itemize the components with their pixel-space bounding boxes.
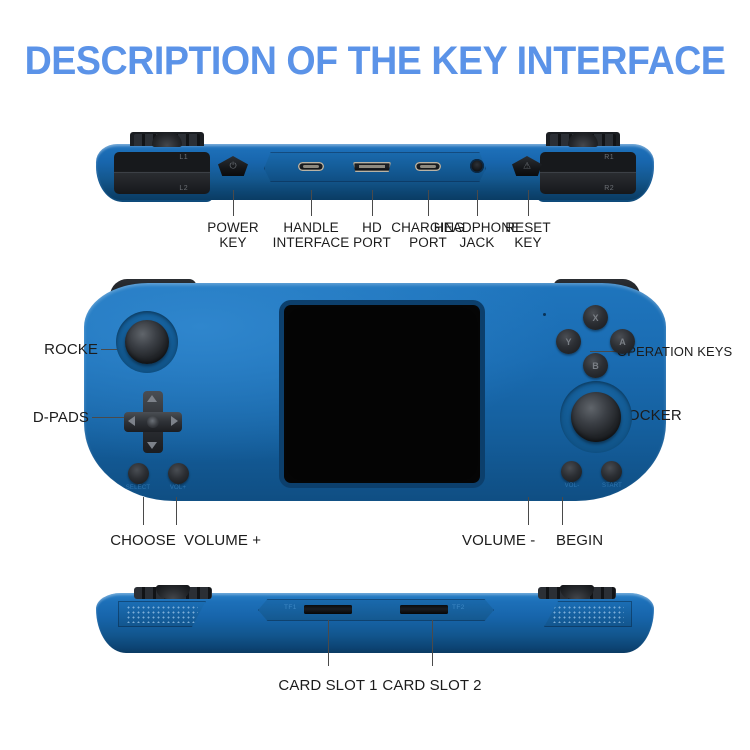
l1-label: L1	[179, 154, 188, 161]
dpad-icon[interactable]	[124, 391, 182, 453]
front-face-view: X Y A B SELECT VOL+ VOL- START	[84, 283, 666, 508]
label-volume-up: VOLUME +	[184, 533, 294, 548]
speaker-grille-right	[544, 601, 632, 627]
top-view-right-stick-cap	[568, 132, 598, 147]
leader-volume-down	[528, 497, 529, 525]
label-dpads: D-PADS	[0, 410, 89, 425]
shoulder-buttons-left[interactable]: L1 L2	[114, 152, 210, 194]
leader-hd-port	[372, 190, 373, 216]
label-begin: BEGIN	[556, 533, 646, 548]
leader-headphone-jack	[477, 190, 478, 216]
dpad-left-arrow-icon	[128, 416, 135, 426]
r1-label: R1	[604, 154, 614, 161]
leader-choose	[143, 497, 144, 525]
button-x[interactable]: X	[583, 305, 608, 330]
handle-interface-port[interactable]	[298, 162, 324, 171]
card-slot-1[interactable]	[304, 605, 352, 614]
volume-up-button[interactable]	[168, 463, 189, 484]
dpad-down-arrow-icon	[147, 442, 157, 449]
leader-card-slot-1	[328, 620, 329, 666]
start-button-caption: START	[595, 483, 629, 489]
shoulder-divider-right	[540, 172, 636, 174]
leader-reset-key	[528, 190, 529, 216]
top-view-left-stick-cap	[152, 132, 182, 147]
leader-card-slot-2	[432, 620, 433, 666]
volume-up-button-caption: VOL+	[161, 485, 195, 491]
leader-handle-interface	[311, 190, 312, 216]
operation-keys-group: X Y A B	[552, 305, 638, 379]
label-left-rocker: ROCKE	[0, 342, 98, 357]
shoulder-buttons-right[interactable]: R1 R2	[540, 152, 636, 194]
bottom-edge-view: TF1 TF2	[96, 585, 654, 665]
top-edge-view: L1 L2 R1 R2 ⏻ ⚠	[96, 132, 654, 204]
left-rocker-cap	[125, 320, 169, 364]
volume-down-button-caption: VOL-	[555, 483, 589, 489]
display-screen	[284, 305, 480, 483]
leader-begin	[562, 497, 563, 525]
status-led-icon	[543, 313, 546, 316]
label-card-slot-2: CARD SLOT 2	[358, 678, 506, 693]
card-slot-2-marking: TF2	[452, 604, 465, 611]
button-y[interactable]: Y	[556, 329, 581, 354]
button-x-glyph: X	[592, 313, 598, 323]
button-y-glyph: Y	[565, 337, 571, 347]
page-root: DESCRIPTION OF THE KEY INTERFACE L1 L2 R…	[0, 0, 750, 750]
card-slot-2[interactable]	[400, 605, 448, 614]
label-power-key: POWER KEY	[203, 220, 263, 250]
right-rocker-cap	[571, 392, 621, 442]
button-a-glyph: A	[619, 337, 626, 347]
bottom-view-left-stick-cap	[156, 585, 190, 599]
select-button-caption: SELECT	[121, 485, 155, 491]
label-reset-key: RESET KEY	[500, 220, 556, 250]
reset-glyph: ⚠	[523, 162, 531, 171]
leader-charging-port	[428, 190, 429, 216]
shoulder-divider-left	[114, 172, 210, 174]
button-b-glyph: B	[592, 361, 599, 371]
card-slot-1-marking: TF1	[284, 604, 297, 611]
power-glyph: ⏻	[229, 162, 236, 171]
leader-volume-up	[176, 497, 177, 525]
leader-power-key	[233, 190, 234, 216]
start-button[interactable]	[601, 461, 622, 482]
dpad-right-arrow-icon	[171, 416, 178, 426]
dpad-up-arrow-icon	[147, 395, 157, 402]
headphone-jack[interactable]	[470, 159, 484, 173]
charging-port[interactable]	[415, 162, 441, 171]
l2-label: L2	[179, 185, 188, 192]
button-b[interactable]: B	[583, 353, 608, 378]
select-button[interactable]	[128, 463, 149, 484]
label-right-rocker: ROCKER	[617, 408, 737, 423]
r2-label: R2	[604, 185, 614, 192]
volume-down-button[interactable]	[561, 461, 582, 482]
left-rocker-stick[interactable]	[116, 311, 178, 373]
dpad-hub	[147, 416, 159, 428]
button-a[interactable]: A	[610, 329, 635, 354]
speaker-grille-left	[118, 601, 206, 627]
bottom-view-right-stick-cap	[560, 585, 594, 599]
page-title: DESCRIPTION OF THE KEY INTERFACE	[23, 38, 728, 84]
hdmi-port[interactable]	[353, 162, 391, 172]
right-rocker-stick[interactable]	[560, 381, 632, 453]
